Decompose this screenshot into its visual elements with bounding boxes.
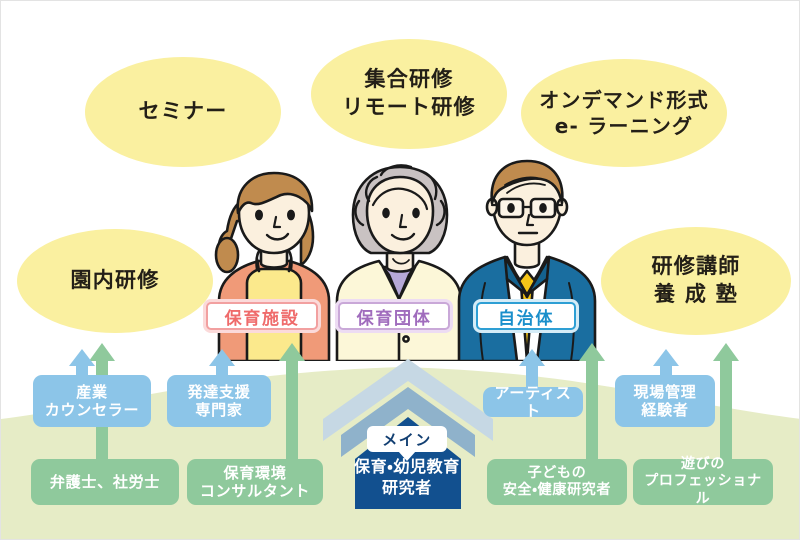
bubble-line: e- ラーニング bbox=[539, 113, 709, 139]
badge-label: 自治体 bbox=[498, 304, 554, 329]
chip-line: カウンセラー bbox=[45, 401, 140, 419]
badge-childcare-organization[interactable]: 保育団体 bbox=[338, 302, 450, 330]
chip-line: 発達支援 bbox=[187, 383, 250, 401]
bubble-line: 集合研修 bbox=[342, 66, 476, 94]
chip-industrial-counselor[interactable]: 産業 カウンセラー bbox=[33, 375, 151, 427]
badge-label: 保育団体 bbox=[357, 304, 432, 329]
bubble-on-demand[interactable]: オンデマンド形式 e- ラーニング bbox=[521, 59, 727, 167]
chip-lawyer-labor[interactable]: 弁護士、社労士 bbox=[31, 459, 179, 505]
chip-child-safety-health[interactable]: 子どもの 安全・健康研究者 bbox=[487, 459, 627, 505]
infographic-canvas: メイン 保育・幼児教育 研究者 産業 カウンセラー 発達支援 専門家 アーティス… bbox=[0, 0, 800, 540]
badge-label: 保育施設 bbox=[225, 304, 300, 329]
chip-play-professional[interactable]: 遊びの プロフェッショナル bbox=[633, 459, 773, 505]
chip-line: 子どもの bbox=[503, 465, 611, 482]
bubble-line: リモート研修 bbox=[342, 94, 476, 122]
bubble-in-house[interactable]: 園内研修 bbox=[17, 229, 213, 333]
bubble-group-remote[interactable]: 集合研修 リモート研修 bbox=[311, 39, 507, 149]
chip-line: アーティスト bbox=[489, 384, 577, 421]
chip-line: 弁護士、社労士 bbox=[50, 473, 160, 491]
chip-line: 安全・健康研究者 bbox=[503, 482, 611, 499]
chip-environment-consultant[interactable]: 保育環境 コンサルタント bbox=[187, 459, 323, 505]
house-label-line1: 保育・幼児教育 bbox=[327, 457, 487, 477]
chip-site-management[interactable]: 現場管理 経験者 bbox=[615, 375, 715, 427]
badge-childcare-facility[interactable]: 保育施設 bbox=[206, 302, 318, 330]
chip-development-support[interactable]: 発達支援 専門家 bbox=[167, 375, 271, 427]
house-label-line2: 研究者 bbox=[327, 478, 487, 498]
chip-line: 保育環境 bbox=[200, 464, 310, 482]
badge-municipality[interactable]: 自治体 bbox=[476, 302, 576, 330]
bubble-line: 養 成 塾 bbox=[651, 281, 740, 309]
chip-artist[interactable]: アーティスト bbox=[483, 387, 583, 417]
chip-line: 産業 bbox=[45, 383, 140, 401]
bubble-line: セミナー bbox=[138, 98, 227, 126]
bubble-seminar[interactable]: セミナー bbox=[85, 57, 281, 167]
chip-line: 専門家 bbox=[187, 401, 250, 419]
bubble-instructor-school[interactable]: 研修講師 養 成 塾 bbox=[601, 227, 791, 335]
bubble-line: オンデマンド形式 bbox=[539, 87, 709, 113]
chip-line: 経験者 bbox=[633, 401, 696, 419]
chip-line: 現場管理 bbox=[633, 383, 696, 401]
chip-line: コンサルタント bbox=[200, 482, 310, 500]
arrow-green-2 bbox=[279, 343, 305, 471]
bubble-line: 園内研修 bbox=[70, 267, 159, 295]
chip-line: 遊びの bbox=[639, 456, 767, 473]
arrow-green-4 bbox=[713, 343, 739, 471]
main-tag: メイン bbox=[367, 426, 447, 452]
bubble-line: 研修講師 bbox=[651, 253, 740, 281]
chip-line: プロフェッショナル bbox=[639, 473, 767, 507]
main-tag-label: メイン bbox=[382, 429, 432, 450]
